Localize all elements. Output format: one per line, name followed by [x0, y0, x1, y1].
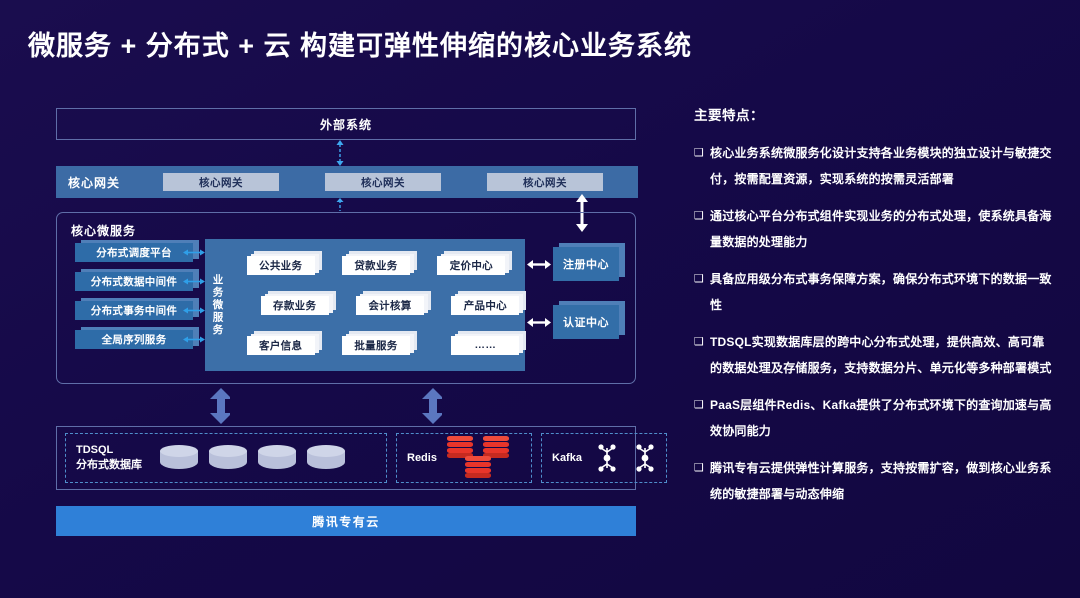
business-service-card[interactable]: 客户信息 — [247, 336, 319, 355]
core-gateway-band: 核心网关 核心网关 核心网关 核心网关 — [56, 166, 638, 198]
page-title: 微服务 + 分布式 + 云 构建可弹性伸缩的核心业务系统 — [28, 24, 692, 63]
feature-item-text: 通过核心平台分布式组件实现业务的分布式处理，使系统具备海量数据的处理能力 — [710, 203, 1056, 255]
middleware-link-arrow-icon — [183, 335, 205, 344]
feature-item-text: TDSQL实现数据库层的跨中心分布式处理，提供高效、高可靠的数据处理及存储服务，… — [710, 329, 1056, 381]
business-service-card[interactable]: 产品中心 — [451, 296, 523, 315]
bullet-square-icon: ❑ — [694, 266, 710, 318]
core-microservices-title: 核心微服务 — [71, 222, 136, 239]
architecture-diagram: 外部系统 核心网关 核心网关 核心网关 核心网关 — [56, 108, 638, 540]
tencent-cloud-label: 腾讯专有云 — [312, 513, 380, 530]
redis-cube-icon — [483, 436, 509, 458]
business-service-card[interactable]: 批量服务 — [342, 336, 414, 355]
redis-label: Redis — [407, 451, 437, 466]
bullet-square-icon: ❑ — [694, 455, 710, 507]
feature-item: ❑ 核心业务系统微服务化设计支持各业务模块的独立设计与敏捷交付，按需配置资源，实… — [694, 140, 1056, 192]
database-cylinder-group — [160, 445, 345, 471]
auth-link-arrow-icon — [527, 317, 551, 328]
middleware-chip-label: 分布式事务中间件 — [75, 301, 193, 320]
business-microservices-panel: 业务微服务 公共业务 贷款业务 定价中心 — [205, 239, 525, 371]
middleware-link-arrow-icon — [183, 277, 205, 286]
redis-cube-group — [447, 436, 519, 480]
middleware-chip[interactable]: 全局序列服务 — [75, 330, 199, 349]
registry-center-box[interactable]: 注册中心 — [553, 247, 625, 281]
database-cylinder-icon — [307, 445, 345, 471]
kafka-node-icon — [634, 443, 656, 473]
ext-to-gateway-arrow-icon — [334, 140, 346, 166]
bullet-square-icon: ❑ — [694, 392, 710, 444]
core-gateway-chip[interactable]: 核心网关 — [325, 173, 441, 191]
business-service-card[interactable]: 定价中心 — [437, 256, 509, 275]
tdsql-cell: TDSQL 分布式数据库 — [65, 433, 387, 483]
business-service-card[interactable]: …… — [451, 336, 523, 355]
business-service-card-label: 存款业务 — [261, 296, 329, 315]
bullet-square-icon: ❑ — [694, 329, 710, 381]
feature-item-text: PaaS层组件Redis、Kafka提供了分布式环境下的查询加速与高效协同能力 — [710, 392, 1056, 444]
tencent-cloud-bar: 腾讯专有云 — [56, 506, 636, 536]
auth-center-label: 认证中心 — [553, 305, 619, 339]
middleware-link-arrow-icon — [183, 248, 205, 257]
database-cylinder-icon — [258, 445, 296, 471]
business-service-card[interactable]: 公共业务 — [247, 256, 319, 275]
feature-item: ❑ 腾讯专有云提供弹性计算服务，支持按需扩容，做到核心业务系统的敏捷部署与动态伸… — [694, 455, 1056, 507]
redis-cube-icon — [447, 436, 473, 458]
business-service-card-label: …… — [451, 336, 519, 355]
bullet-square-icon: ❑ — [694, 140, 710, 192]
middleware-chip[interactable]: 分布式事务中间件 — [75, 301, 199, 320]
business-service-card[interactable]: 贷款业务 — [342, 256, 414, 275]
kafka-label: Kafka — [552, 451, 582, 466]
data-layer-panel: TDSQL 分布式数据库 Redis Kaf — [56, 426, 636, 490]
database-cylinder-icon — [209, 445, 247, 471]
core-gateway-chip[interactable]: 核心网关 — [163, 173, 279, 191]
core-gateway-title: 核心网关 — [68, 174, 140, 191]
feature-item-text: 腾讯专有云提供弹性计算服务，支持按需扩容，做到核心业务系统的敏捷部署与动态伸缩 — [710, 455, 1056, 507]
business-service-card-label: 定价中心 — [437, 256, 505, 275]
kafka-node-icon — [596, 443, 618, 473]
feature-item: ❑ TDSQL实现数据库层的跨中心分布式处理，提供高效、高可靠的数据处理及存储服… — [694, 329, 1056, 381]
registry-link-arrow-icon — [527, 259, 551, 270]
redis-cube-icon — [465, 456, 491, 478]
redis-cell: Redis — [396, 433, 532, 483]
business-service-card-grid: 公共业务 贷款业务 定价中心 存款业务 — [231, 239, 525, 371]
feature-item-text: 核心业务系统微服务化设计支持各业务模块的独立设计与敏捷交付，按需配置资源，实现系… — [710, 140, 1056, 192]
business-service-card-label: 产品中心 — [451, 296, 519, 315]
business-service-card-label: 贷款业务 — [342, 256, 410, 275]
tdsql-label-line1: TDSQL — [76, 443, 142, 458]
business-service-card-label: 公共业务 — [247, 256, 315, 275]
feature-item: ❑ 具备应用级分布式事务保障方案，确保分布式环境下的数据一致性 — [694, 266, 1056, 318]
core-to-data-arrow-icon — [208, 388, 230, 424]
registry-center-label: 注册中心 — [553, 247, 619, 281]
middleware-chip-label: 分布式调度平台 — [75, 243, 193, 262]
feature-item: ❑ 通过核心平台分布式组件实现业务的分布式处理，使系统具备海量数据的处理能力 — [694, 203, 1056, 255]
feature-item-text: 具备应用级分布式事务保障方案，确保分布式环境下的数据一致性 — [710, 266, 1056, 318]
business-service-card[interactable]: 会计核算 — [356, 296, 428, 315]
business-service-card-label: 会计核算 — [356, 296, 424, 315]
business-service-card-label: 批量服务 — [342, 336, 410, 355]
middleware-chip-label: 分布式数据中间件 — [75, 272, 193, 291]
middleware-link-arrow-icon — [183, 306, 205, 315]
middleware-chip[interactable]: 分布式调度平台 — [75, 243, 199, 262]
external-system-label: 外部系统 — [320, 116, 372, 133]
platform-service-box-list: 注册中心 认证中心 — [553, 247, 625, 363]
business-microservices-label: 业务微服务 — [205, 239, 231, 371]
tdsql-label: TDSQL 分布式数据库 — [76, 443, 142, 473]
database-cylinder-icon — [160, 445, 198, 471]
gateway-to-core-arrow-icon — [334, 198, 346, 213]
slide-background: 微服务 + 分布式 + 云 构建可弹性伸缩的核心业务系统 外部系统 核心网关 核… — [0, 0, 1080, 598]
bullet-square-icon: ❑ — [694, 203, 710, 255]
kafka-icon-group — [596, 443, 656, 473]
feature-item: ❑ PaaS层组件Redis、Kafka提供了分布式环境下的查询加速与高效协同能… — [694, 392, 1056, 444]
middleware-chip-list: 分布式调度平台 分布式数据中间件 分布式事务中间件 全局序列服务 — [75, 243, 199, 359]
feature-list-title: 主要特点： — [694, 104, 1056, 124]
core-gateway-chip[interactable]: 核心网关 — [487, 173, 603, 191]
middleware-chip[interactable]: 分布式数据中间件 — [75, 272, 199, 291]
business-service-card-label: 客户信息 — [247, 336, 315, 355]
kafka-cell: Kafka — [541, 433, 667, 483]
middleware-chip-label: 全局序列服务 — [75, 330, 193, 349]
core-to-data-arrow-icon — [420, 388, 442, 424]
auth-center-box[interactable]: 认证中心 — [553, 305, 625, 339]
business-service-card[interactable]: 存款业务 — [261, 296, 333, 315]
feature-list-section: 主要特点： ❑ 核心业务系统微服务化设计支持各业务模块的独立设计与敏捷交付，按需… — [694, 104, 1056, 518]
tdsql-label-line2: 分布式数据库 — [76, 458, 142, 473]
core-microservices-panel: 核心微服务 分布式调度平台 分布式数据中间件 分布式事务中间件 全局序列服务 — [56, 212, 636, 384]
external-system-box: 外部系统 — [56, 108, 636, 140]
core-gateway-chip-list: 核心网关 核心网关 核心网关 — [140, 173, 638, 191]
